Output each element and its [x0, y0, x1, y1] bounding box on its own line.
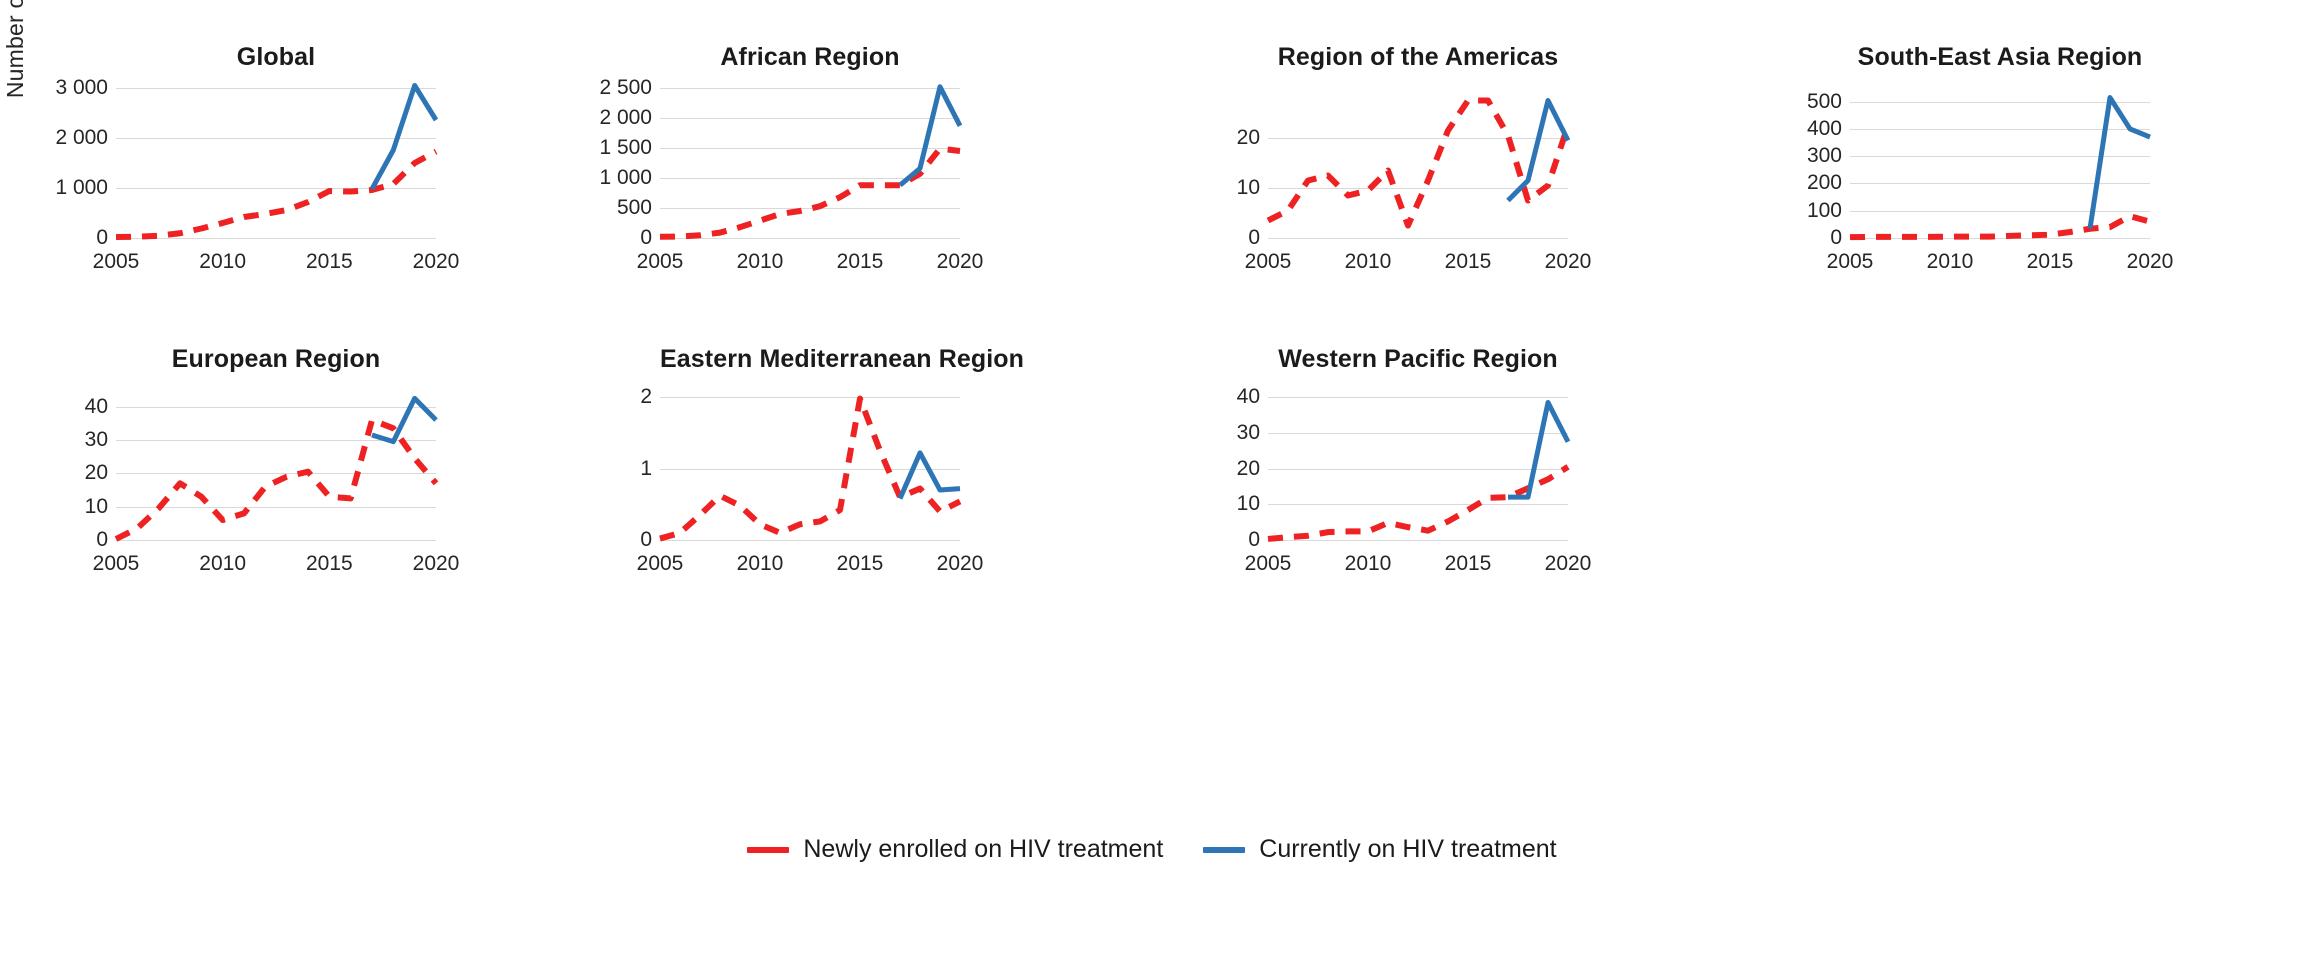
x-axis-tick: 2010 — [737, 552, 784, 576]
y-axis-tick: 2 500 — [599, 76, 652, 100]
y-axis-tick: 20 — [1237, 457, 1260, 481]
panel-title: African Region — [660, 43, 960, 72]
x-axis-tick: 2015 — [837, 250, 884, 274]
x-axis-tick: 2015 — [837, 552, 884, 576]
gridline — [1268, 540, 1568, 541]
y-axis-tick: 2 000 — [599, 106, 652, 130]
panel-global: Global01 0002 0003 0002005201020152020 — [26, 43, 436, 283]
y-axis-tick: 0 — [640, 528, 652, 552]
y-axis-tick: 500 — [617, 196, 652, 220]
legend-item-currently-on[interactable]: Currently on HIV treatment — [1203, 835, 1556, 864]
y-axis-tick: 0 — [96, 528, 108, 552]
series-line — [900, 87, 960, 185]
panel-title: European Region — [116, 345, 436, 374]
series-canvas — [116, 88, 436, 238]
y-axis-tick: 100 — [1807, 199, 1842, 223]
series-line — [1268, 101, 1568, 226]
y-axis-tick: 20 — [85, 461, 108, 485]
x-axis-tick: 2015 — [306, 250, 353, 274]
series-line — [660, 149, 960, 237]
x-axis-tick: 2005 — [1827, 250, 1874, 274]
y-axis-tick: 0 — [1248, 528, 1260, 552]
panel-african: African Region05001 0001 5002 0002 50020… — [570, 43, 960, 283]
x-axis-tick: 2015 — [1445, 552, 1492, 576]
panel-european: European Region0102030402005201020152020 — [26, 345, 436, 585]
y-axis-tick: 10 — [1237, 176, 1260, 200]
panel-title: Eastern Mediterranean Region — [660, 345, 960, 374]
plot-area: 01 0002 0003 0002005201020152020 — [116, 88, 436, 238]
plot-area: 01002003004005002005201020152020 — [1850, 88, 2150, 238]
x-axis-tick: 2015 — [306, 552, 353, 576]
y-axis-tick: 40 — [85, 395, 108, 419]
y-axis-tick: 400 — [1807, 117, 1842, 141]
y-axis-tick: 1 000 — [55, 176, 108, 200]
panel-title: Global — [116, 43, 436, 72]
x-axis-tick: 2020 — [413, 552, 460, 576]
series-canvas — [660, 390, 960, 540]
panel-title: Western Pacific Region — [1268, 345, 1568, 374]
series-line — [1508, 101, 1568, 201]
series-line — [372, 398, 436, 441]
y-axis-tick: 10 — [1237, 492, 1260, 516]
y-axis-tick: 0 — [640, 226, 652, 250]
y-axis-tick: 0 — [96, 226, 108, 250]
x-axis-tick: 2010 — [199, 552, 246, 576]
y-axis-tick: 1 000 — [599, 166, 652, 190]
x-axis-tick: 2020 — [413, 250, 460, 274]
y-axis-tick: 3 000 — [55, 76, 108, 100]
y-axis-tick: 40 — [1237, 385, 1260, 409]
x-axis-tick: 2015 — [1445, 250, 1492, 274]
plot-area: 0102030402005201020152020 — [1268, 390, 1568, 540]
panel-title: South-East Asia Region — [1850, 43, 2150, 72]
gridline — [1850, 238, 2150, 239]
series-line — [1850, 216, 2150, 237]
y-axis-tick: 30 — [85, 428, 108, 452]
x-axis-tick: 2010 — [1345, 552, 1392, 576]
legend-label-currently-on: Currently on HIV treatment — [1259, 835, 1556, 864]
chart-legend: Newly enrolled on HIV treatment Currentl… — [0, 835, 2304, 864]
x-axis-tick: 2010 — [1345, 250, 1392, 274]
gridline — [116, 540, 436, 541]
legend-swatch-currently-on — [1203, 847, 1245, 853]
y-axis-tick: 500 — [1807, 90, 1842, 114]
chart-figure: Number of people (thousands) Global01 00… — [0, 0, 2304, 960]
plot-area: 0102030402005201020152020 — [116, 390, 436, 540]
y-axis-tick: 0 — [1830, 226, 1842, 250]
x-axis-tick: 2005 — [1245, 250, 1292, 274]
gridline — [1268, 238, 1568, 239]
y-axis-tick: 200 — [1807, 171, 1842, 195]
x-axis-tick: 2010 — [737, 250, 784, 274]
x-axis-tick: 2020 — [2127, 250, 2174, 274]
plot-area: 010202005201020152020 — [1268, 88, 1568, 238]
y-axis-tick: 0 — [1248, 226, 1260, 250]
legend-swatch-newly-enrolled — [747, 847, 789, 853]
panel-eastern-med: Eastern Mediterranean Region012200520102… — [570, 345, 960, 585]
y-axis-tick: 300 — [1807, 144, 1842, 168]
series-line — [2090, 98, 2150, 229]
x-axis-tick: 2005 — [93, 250, 140, 274]
y-axis-tick: 2 — [640, 385, 652, 409]
x-axis-tick: 2010 — [199, 250, 246, 274]
panel-title: Region of the Americas — [1268, 43, 1568, 72]
y-axis-tick: 20 — [1237, 126, 1260, 150]
series-line — [1508, 403, 1568, 498]
series-canvas — [1268, 390, 1568, 540]
gridline — [660, 540, 960, 541]
x-axis-tick: 2020 — [1545, 250, 1592, 274]
gridline — [116, 238, 436, 239]
x-axis-tick: 2005 — [1245, 552, 1292, 576]
y-axis-tick: 1 — [640, 457, 652, 481]
x-axis-tick: 2005 — [637, 552, 684, 576]
series-canvas — [1850, 88, 2150, 238]
series-canvas — [116, 390, 436, 540]
panel-south-east: South-East Asia Region010020030040050020… — [1760, 43, 2150, 283]
y-axis-tick: 1 500 — [599, 136, 652, 160]
panel-americas: Region of the Americas010202005201020152… — [1178, 43, 1568, 283]
plot-area: 0122005201020152020 — [660, 390, 960, 540]
x-axis-tick: 2020 — [937, 250, 984, 274]
gridline — [660, 238, 960, 239]
y-axis-tick: 2 000 — [55, 126, 108, 150]
x-axis-tick: 2020 — [1545, 552, 1592, 576]
y-axis-tick: 10 — [85, 495, 108, 519]
x-axis-tick: 2010 — [1927, 250, 1974, 274]
series-line — [900, 453, 960, 499]
x-axis-tick: 2005 — [637, 250, 684, 274]
x-axis-tick: 2005 — [93, 552, 140, 576]
series-canvas — [1268, 88, 1568, 238]
legend-label-newly-enrolled: Newly enrolled on HIV treatment — [803, 835, 1163, 864]
plot-area: 05001 0001 5002 0002 5002005201020152020 — [660, 88, 960, 238]
panel-western-pac: Western Pacific Region010203040200520102… — [1178, 345, 1568, 585]
series-canvas — [660, 88, 960, 238]
x-axis-tick: 2015 — [2027, 250, 2074, 274]
x-axis-tick: 2020 — [937, 552, 984, 576]
y-axis-tick: 30 — [1237, 421, 1260, 445]
series-line — [1268, 467, 1568, 539]
legend-item-newly-enrolled[interactable]: Newly enrolled on HIV treatment — [747, 835, 1163, 864]
